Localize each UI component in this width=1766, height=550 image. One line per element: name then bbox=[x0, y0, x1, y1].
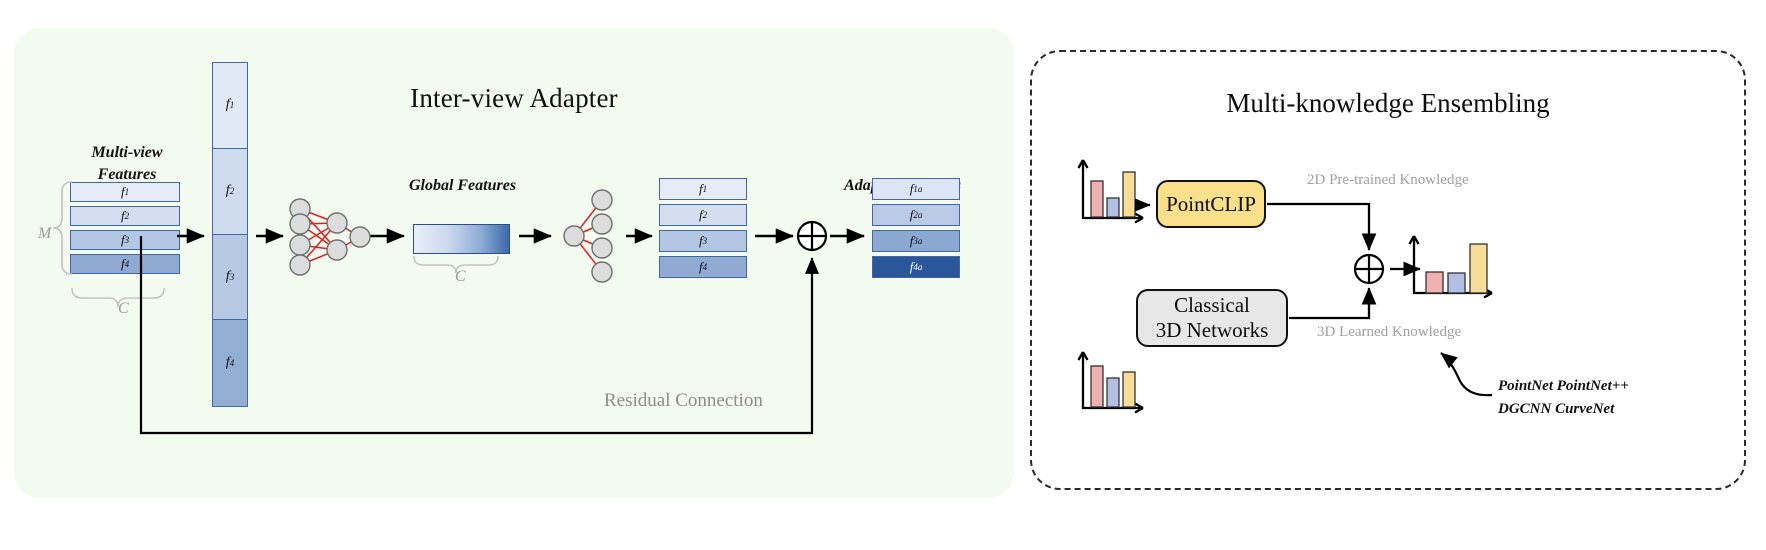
concat-segment: f1 bbox=[213, 63, 247, 149]
pointclip-box[interactable]: PointCLIP bbox=[1156, 180, 1266, 228]
classical-3d-networks-box[interactable]: Classical 3D Networks bbox=[1136, 289, 1288, 347]
multi-knowledge-ensembling-panel: Multi-knowledge Ensembling bbox=[1030, 50, 1746, 490]
multi-view-feature-row: f4 bbox=[70, 254, 180, 274]
knowledge-3d-label: 3D Learned Knowledge bbox=[1317, 324, 1461, 341]
pre-adapted-feature-row: f4 bbox=[659, 256, 747, 278]
adapted-feature-row: f4a bbox=[872, 256, 960, 278]
pre-adapted-feature-row: f2 bbox=[659, 204, 747, 226]
multi-view-feature-row: f1 bbox=[70, 182, 180, 202]
residual-connection-label: Residual Connection bbox=[604, 390, 763, 412]
concatenated-feature-bar: f1f2f3f4 bbox=[212, 62, 248, 407]
dim-label-m: M bbox=[38, 225, 51, 243]
adapted-feature-row: f2a bbox=[872, 204, 960, 226]
concat-segment: f3 bbox=[213, 235, 247, 321]
multi-view-feature-stack: f1f2f3f4 bbox=[70, 182, 180, 278]
global-feature-bar bbox=[413, 224, 510, 254]
multi-view-feature-row: f3 bbox=[70, 230, 180, 250]
network-names-label: PointNet PointNet++ DGCNN CurveNet bbox=[1498, 375, 1629, 422]
pre-adapted-feature-row: f1 bbox=[659, 178, 747, 200]
concat-segment: f4 bbox=[213, 320, 247, 406]
pointclip-label: PointCLIP bbox=[1166, 192, 1256, 217]
multi-view-features-label: Multi-view Features bbox=[52, 142, 202, 185]
right-panel-title: Multi-knowledge Ensembling bbox=[1032, 88, 1744, 119]
adapted-feature-row: f1a bbox=[872, 178, 960, 200]
pre-adapted-feature-row: f3 bbox=[659, 230, 747, 252]
adapted-feature-row: f3a bbox=[872, 230, 960, 252]
concat-segment: f2 bbox=[213, 149, 247, 235]
knowledge-2d-label: 2D Pre-trained Knowledge bbox=[1307, 172, 1469, 189]
multi-view-feature-row: f2 bbox=[70, 206, 180, 226]
dim-label-c: C bbox=[118, 300, 129, 318]
pre-adapted-feature-stack: f1f2f3f4 bbox=[659, 178, 747, 282]
dim-label-c-global: C bbox=[455, 268, 466, 286]
global-features-label: Global Features bbox=[375, 175, 550, 197]
page-title: Inter-view Adapter bbox=[14, 83, 1014, 114]
diagram-canvas: Inter-view Adapter Multi-view Features G… bbox=[0, 0, 1766, 550]
adapted-feature-stack: f1af2af3af4a bbox=[872, 178, 960, 282]
classical-3d-networks-label: Classical 3D Networks bbox=[1156, 293, 1269, 343]
